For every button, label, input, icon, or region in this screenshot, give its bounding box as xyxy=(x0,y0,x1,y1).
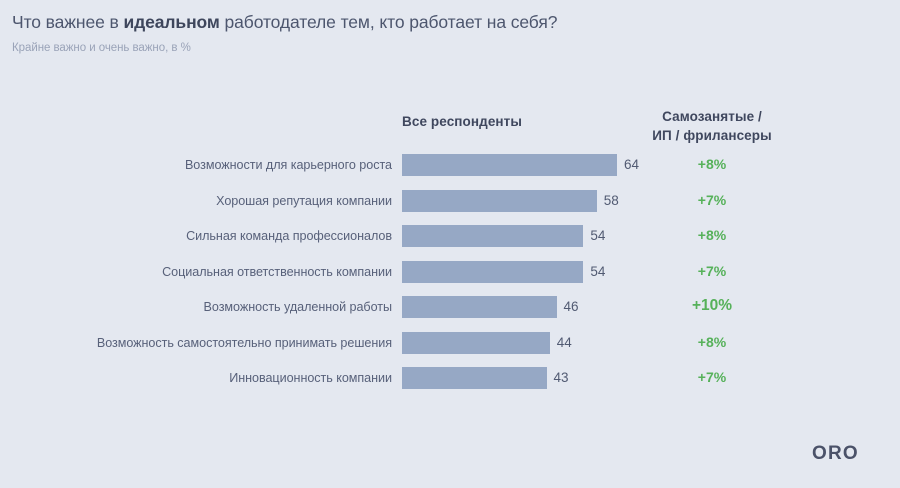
bar xyxy=(402,190,597,212)
bar xyxy=(402,225,583,247)
delta-value: +8% xyxy=(632,153,792,175)
chart-row: Возможность удаленной работы46+10% xyxy=(0,295,900,331)
row-label: Хорошая репутация компании xyxy=(216,189,392,213)
chart-row: Возможность самостоятельно принимать реш… xyxy=(0,331,900,367)
row-label: Инновационность компании xyxy=(229,366,392,390)
bar-group: 46 xyxy=(402,296,579,318)
bar-value-label: 54 xyxy=(590,225,605,247)
chart-row: Возможности для карьерного роста64+8% xyxy=(0,153,900,189)
row-label: Возможности для карьерного роста xyxy=(185,153,392,177)
bar xyxy=(402,367,547,389)
delta-value: +8% xyxy=(632,331,792,353)
bar-group: 44 xyxy=(402,332,572,354)
column-header-all-respondents: Все респонденты xyxy=(402,114,522,129)
bar xyxy=(402,154,617,176)
delta-value: +8% xyxy=(632,224,792,246)
delta-value: +10% xyxy=(632,295,792,317)
chart-row: Хорошая репутация компании58+7% xyxy=(0,189,900,225)
bar-value-label: 58 xyxy=(604,190,619,212)
title-suffix: работодателе тем, кто работает на себя? xyxy=(220,12,558,32)
bar xyxy=(402,332,550,354)
bar xyxy=(402,261,583,283)
bar-group: 58 xyxy=(402,190,619,212)
title-prefix: Что важнее в xyxy=(12,12,123,32)
chart-row: Инновационность компании43+7% xyxy=(0,366,900,402)
chart-subtitle: Крайне важно и очень важно, в % xyxy=(12,40,882,56)
delta-value: +7% xyxy=(632,189,792,211)
delta-value: +7% xyxy=(632,260,792,282)
column-header-self-employed: Самозанятые / ИП / фрилансеры xyxy=(632,107,792,145)
bar-group: 64 xyxy=(402,154,639,176)
column-header-self-employed-line1: Самозанятые / xyxy=(632,107,792,126)
bar-value-label: 43 xyxy=(554,367,569,389)
row-label: Социальная ответственность компании xyxy=(162,260,392,284)
row-label: Возможность самостоятельно принимать реш… xyxy=(97,331,392,355)
delta-value: +7% xyxy=(632,366,792,388)
row-label: Возможность удаленной работы xyxy=(204,295,392,319)
bar xyxy=(402,296,557,318)
bar-group: 54 xyxy=(402,225,605,247)
oro-logo: ORO xyxy=(812,443,859,465)
chart-header: Что важнее в идеальном работодателе тем,… xyxy=(12,10,882,56)
chart-rows: Возможности для карьерного роста64+8%Хор… xyxy=(0,153,900,402)
page-title: Что важнее в идеальном работодателе тем,… xyxy=(12,10,882,34)
bar-value-label: 46 xyxy=(564,296,579,318)
column-header-self-employed-line2: ИП / фрилансеры xyxy=(632,126,792,145)
title-emphasis: идеальном xyxy=(123,12,219,32)
chart-row: Социальная ответственность компании54+7% xyxy=(0,260,900,296)
chart-row: Сильная команда профессионалов54+8% xyxy=(0,224,900,260)
bar-value-label: 54 xyxy=(590,261,605,283)
chart-container: Что важнее в идеальном работодателе тем,… xyxy=(0,0,900,488)
bar-group: 54 xyxy=(402,261,605,283)
row-label: Сильная команда профессионалов xyxy=(186,224,392,248)
bar-value-label: 44 xyxy=(557,332,572,354)
bar-group: 43 xyxy=(402,367,569,389)
